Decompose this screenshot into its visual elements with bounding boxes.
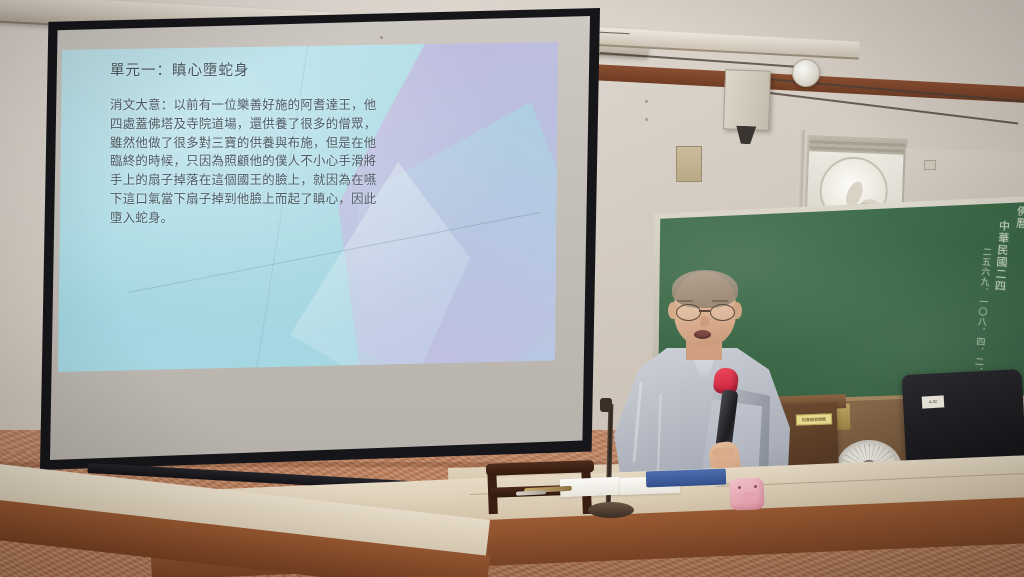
monitor-asset-label: A-02 xyxy=(922,395,945,408)
fan-louver-shade xyxy=(809,137,905,155)
microphone-stand-clip xyxy=(600,398,612,412)
wall-screw-dot xyxy=(380,36,383,39)
chair-backrest-top xyxy=(486,460,594,476)
slide-body-line: 四處蓋佛塔及寺院道場，還供養了很多的僧眾， xyxy=(110,115,442,134)
lens-right xyxy=(710,304,735,321)
slide-body-line: 雖然他做了很多對三寶的供養與布施，但是在他 xyxy=(110,134,442,153)
piggy-eye xyxy=(754,485,757,488)
blue-desk-mat xyxy=(646,469,727,488)
wall-access-panel xyxy=(676,146,702,182)
piggy-eye xyxy=(738,486,741,489)
slide-body-line: 下這口氣當下扇子掉到他臉上而起了瞋心，因此 xyxy=(110,190,442,209)
computer-monitor[interactable] xyxy=(902,369,1024,469)
slide-title: 單元一：瞋心墮蛇身 xyxy=(110,64,442,80)
shaved-head xyxy=(672,270,738,308)
glasses-bridge xyxy=(699,310,710,312)
wall-speaker xyxy=(723,69,771,131)
eyebrow-left xyxy=(677,300,693,302)
slide-body: 消文大意：以前有一位樂善好施的阿耆達王，他 四處蓋佛塔及寺院道場，還供養了很多的… xyxy=(110,96,442,228)
slide-body-line: 手上的扇子掉落在這個國王的臉上，就因為在嚥 xyxy=(110,171,442,190)
wall-screw-dot xyxy=(645,100,648,103)
slide-body-line: 消文大意：以前有一位樂善好施的阿耆達王，他 xyxy=(110,96,442,115)
slide-body-line: 臨終的時候，只因為照顧他的僕人不小心手滑將 xyxy=(110,152,442,171)
lectern-asset-label: 財產編號標籤 xyxy=(796,413,832,425)
nose xyxy=(700,316,709,327)
mouth xyxy=(694,330,711,339)
wall-screw-dot xyxy=(645,118,648,121)
classroom-photo-scene: ITW 單元一：瞋心墮蛇身 消文大意：以前有一位樂善好施的阿耆達王，他 四處蓋佛… xyxy=(0,0,1024,577)
piggy-snout xyxy=(742,492,755,502)
smoke-detector-icon xyxy=(792,59,820,87)
microphone-stand-base xyxy=(588,502,634,518)
projected-slide: 單元一：瞋心墮蛇身 消文大意：以前有一位樂善好施的阿耆達王，他 四處蓋佛塔及寺院… xyxy=(58,42,558,372)
eyebrow-right xyxy=(712,300,728,302)
slide-body-line: 墮入蛇身。 xyxy=(110,209,442,228)
lens-left xyxy=(676,304,701,321)
wall-conduit xyxy=(924,160,936,170)
slide-text-block: 單元一：瞋心墮蛇身 消文大意：以前有一位樂善好施的阿耆達王，他 四處蓋佛塔及寺院… xyxy=(110,64,442,228)
projection-screen[interactable]: 單元一：瞋心墮蛇身 消文大意：以前有一位樂善好施的阿耆達王，他 四處蓋佛塔及寺院… xyxy=(40,8,600,470)
